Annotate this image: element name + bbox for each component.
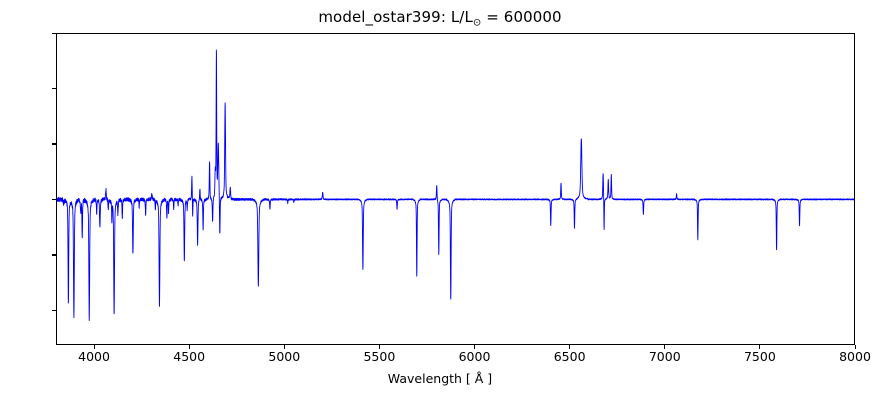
x-tick-label: 8000 [839, 349, 871, 364]
x-tick-mark [664, 345, 665, 349]
x-tick-mark [759, 345, 760, 349]
spectrum-line [57, 34, 854, 344]
x-tick-label: 5500 [363, 349, 395, 364]
plot-title-prefix: model_ostar399: L/L [318, 8, 473, 26]
x-tick-label: 4500 [173, 349, 205, 364]
x-tick-label: 7500 [744, 349, 776, 364]
x-tick-mark [474, 345, 475, 349]
y-tick-mark [52, 33, 56, 34]
x-tick-label: 7000 [649, 349, 681, 364]
plot-title-suffix: = 600000 [481, 8, 561, 26]
y-tick-mark [52, 199, 56, 200]
y-tick-mark [52, 88, 56, 89]
y-tick-mark [52, 143, 56, 144]
spectrum-figure: model_ostar399: L/L⊙ = 600000 Normalized… [0, 0, 880, 400]
x-tick-mark [379, 345, 380, 349]
x-tick-mark [189, 345, 190, 349]
x-tick-label: 5000 [268, 349, 300, 364]
plot-axes [56, 33, 855, 345]
x-axis-label: Wavelength [ Å ] [0, 371, 880, 386]
page-title: model_ostar399: L/L⊙ = 600000 [0, 8, 880, 29]
x-tick-mark [94, 345, 95, 349]
y-tick-mark [52, 310, 56, 311]
x-tick-mark [284, 345, 285, 349]
x-tick-label: 6000 [459, 349, 491, 364]
x-tick-mark [855, 345, 856, 349]
y-axis-label: Normalized flux [0, 89, 2, 289]
x-tick-label: 6500 [554, 349, 586, 364]
x-tick-mark [569, 345, 570, 349]
x-tick-label: 4000 [78, 349, 110, 364]
y-tick-mark [52, 254, 56, 255]
